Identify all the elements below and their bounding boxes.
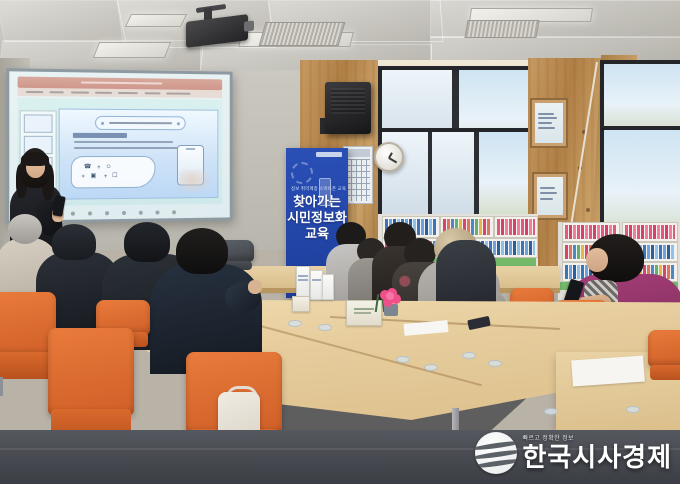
slide-app-menubar bbox=[18, 88, 223, 98]
watermark: 빠르고 정확한 정보 한국시사경제 bbox=[475, 432, 672, 474]
slide-hand-graphic bbox=[179, 169, 213, 195]
photograph-root: ☎ + ☺ + ▣ + ☐ bbox=[0, 0, 680, 484]
leaflet bbox=[322, 274, 334, 300]
phone-icon: ☎ bbox=[84, 164, 92, 170]
plus-icon: + bbox=[97, 165, 101, 171]
coaster bbox=[396, 356, 410, 363]
slide-speech-bubble: ☎ + ☺ + ▣ + ☐ bbox=[71, 156, 156, 188]
flower bbox=[380, 288, 402, 308]
coaster bbox=[488, 360, 502, 367]
attendee bbox=[150, 228, 258, 358]
slide-status-bar bbox=[50, 210, 191, 218]
leaflet bbox=[296, 266, 310, 298]
ceiling-light-panel bbox=[125, 14, 187, 27]
camera-icon: ▣ bbox=[91, 174, 97, 180]
coaster bbox=[626, 406, 640, 413]
slide-heading-pill bbox=[95, 116, 185, 130]
coaster bbox=[462, 352, 476, 359]
framed-notice bbox=[532, 172, 568, 220]
slide-title-text bbox=[73, 133, 127, 138]
banner-subtitle: 정보 취약계층 스마트폰 교육 bbox=[291, 186, 343, 192]
chair[interactable] bbox=[648, 330, 680, 390]
coaster bbox=[544, 408, 558, 415]
banner-title-line1: 찾아가는 bbox=[286, 194, 348, 210]
watermark-name: 한국시사경제 bbox=[522, 444, 672, 470]
wave-logo-icon bbox=[475, 432, 517, 474]
coaster bbox=[288, 320, 302, 327]
plus-icon: + bbox=[81, 174, 85, 180]
window-lower bbox=[378, 128, 534, 224]
ceiling-vent bbox=[259, 22, 346, 46]
window-right-top bbox=[600, 60, 680, 136]
wall-speaker bbox=[325, 82, 371, 134]
framed-notice bbox=[530, 98, 568, 148]
wall-clock bbox=[374, 142, 404, 172]
ceiling-vent bbox=[464, 20, 539, 38]
plus-icon: + bbox=[104, 174, 108, 180]
banner-decor-circle bbox=[291, 162, 313, 184]
coaster bbox=[424, 364, 438, 371]
slide-content: ☎ + ☺ + ▣ + ☐ bbox=[59, 109, 219, 200]
emoji-icon: ☺ bbox=[106, 164, 112, 170]
paper-sheet bbox=[571, 356, 645, 387]
ceiling-light-panel bbox=[93, 42, 171, 58]
message-icon: ☐ bbox=[112, 174, 117, 180]
small-box bbox=[292, 296, 310, 312]
coaster bbox=[318, 324, 332, 331]
banner-logo bbox=[316, 152, 342, 157]
